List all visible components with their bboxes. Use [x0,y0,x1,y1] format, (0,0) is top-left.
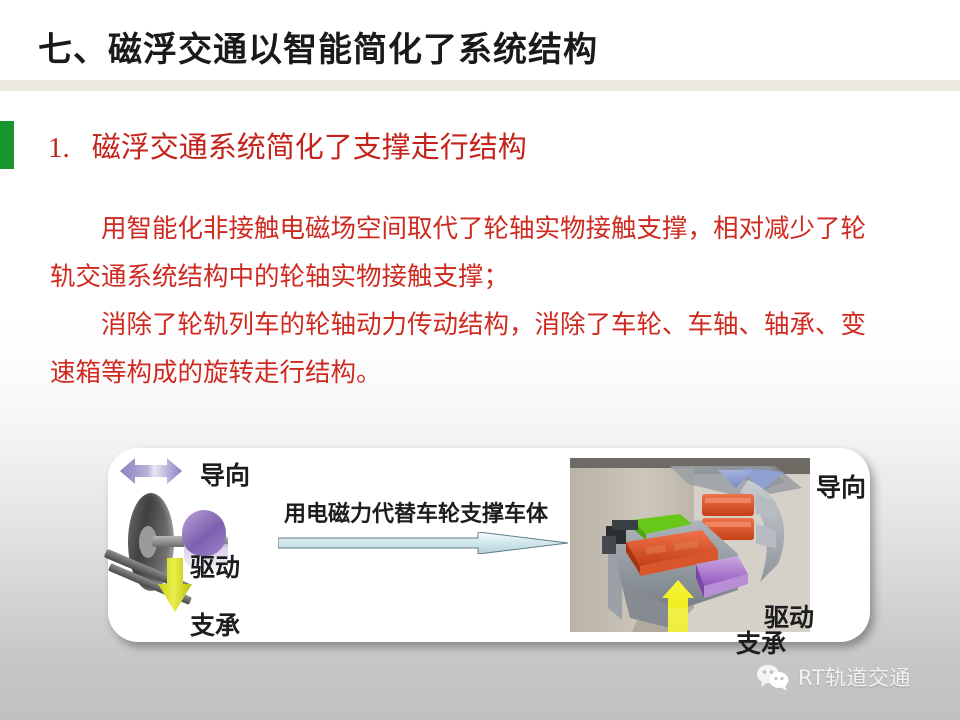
title-divider [0,80,960,91]
label-support-left: 支承 [190,606,240,642]
page-title: 七、磁浮交通以智能简化了系统结构 [38,22,598,71]
long-arrow-right-icon [278,532,568,554]
label-drive-left: 驱动 [190,548,240,584]
label-guide-left: 导向 [200,456,250,492]
subheading: 1.磁浮交通系统简化了支撑走行结构 [48,124,527,166]
label-support-right: 支承 [736,624,786,660]
watermark-text: RT轨道交通 [798,662,911,692]
wechat-icon [756,663,790,691]
transition-caption: 用电磁力代替车轮支撑车体 [284,496,548,528]
paragraph-2: 消除了轮轨列车的轮轴动力传动结构，消除了车轮、车轴、轴承、变速箱等构成的旋转走行… [50,301,890,397]
slide-canvas: 七、磁浮交通以智能简化了系统结构 1.磁浮交通系统简化了支撑走行结构 用智能化非… [0,0,960,720]
paragraph-1: 用智能化非接触电磁场空间取代了轮轴实物接触支撑，相对减少了轮轨交通系统结构中的轮… [50,205,890,301]
subheading-text: 磁浮交通系统简化了支撑走行结构 [92,132,527,164]
double-arrow-horizontal-icon [120,456,182,486]
watermark: RT轨道交通 [756,662,911,692]
label-guide-right: 导向 [816,468,866,504]
green-accent-chip [0,121,14,169]
arrow-down-icon [158,558,192,612]
subheading-number: 1. [48,132,70,164]
illustration-card: 导向 驱动 支承 用电磁力代替车轮支撑车体 [108,448,870,642]
body-text: 用智能化非接触电磁场空间取代了轮轴实物接触支撑，相对减少了轮轨交通系统结构中的轮… [50,205,890,397]
